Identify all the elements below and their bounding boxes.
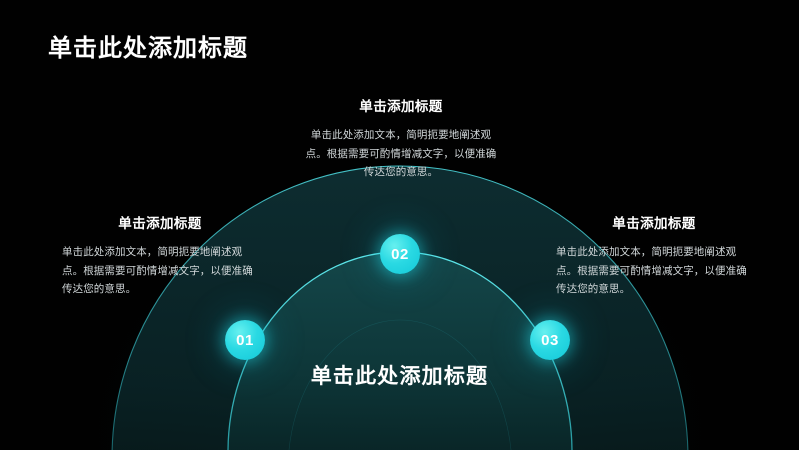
page-title: 单击此处添加标题 bbox=[48, 28, 248, 63]
center-title: 单击此处添加标题 bbox=[0, 360, 799, 390]
outer-dome-arc bbox=[112, 166, 688, 450]
inner-dome-arc bbox=[228, 252, 572, 450]
step-node-01[interactable]: 01 bbox=[225, 320, 265, 360]
step-node-03[interactable]: 03 bbox=[530, 320, 570, 360]
block-right-body: 单击此处添加文本，简明扼要地阐述观点。根据需要可酌情增减文字，以便准确传达您的意… bbox=[556, 243, 752, 299]
block-left-body: 单击此处添加文本，简明扼要地阐述观点。根据需要可酌情增减文字，以便准确传达您的意… bbox=[62, 243, 258, 299]
block-top-heading: 单击添加标题 bbox=[305, 95, 497, 115]
content-block-left: 单击添加标题 单击此处添加文本，简明扼要地阐述观点。根据需要可酌情增减文字，以便… bbox=[62, 212, 258, 299]
step-node-02[interactable]: 02 bbox=[380, 234, 420, 274]
content-block-right: 单击添加标题 单击此处添加文本，简明扼要地阐述观点。根据需要可酌情增减文字，以便… bbox=[556, 212, 752, 299]
content-block-top: 单击添加标题 单击此处添加文本，简明扼要地阐述观点。根据需要可酌情增减文字，以便… bbox=[305, 95, 497, 182]
block-right-heading: 单击添加标题 bbox=[556, 212, 752, 232]
block-top-body: 单击此处添加文本，简明扼要地阐述观点。根据需要可酌情增减文字，以便准确传达您的意… bbox=[305, 126, 497, 182]
slide-canvas: 单击此处添加标题 单击添加标题 单击此处添加文本，简明扼要地阐述观点。根据需要可… bbox=[0, 0, 799, 450]
block-left-heading: 单击添加标题 bbox=[62, 212, 258, 232]
